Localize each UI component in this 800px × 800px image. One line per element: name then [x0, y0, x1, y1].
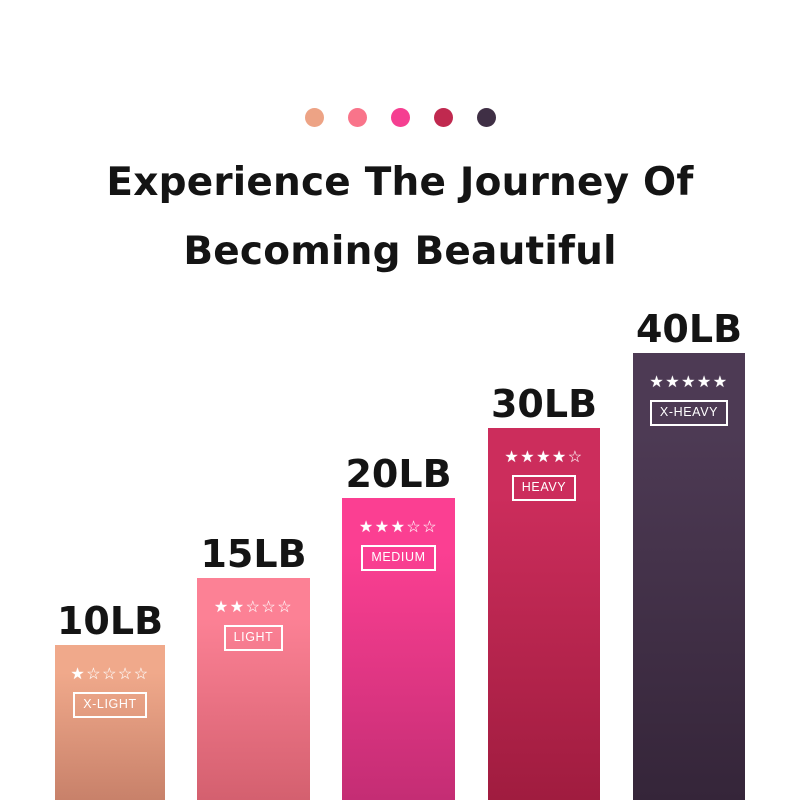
bar-column[interactable]: 10LB★☆☆☆☆X-LIGHT	[55, 645, 165, 800]
bar-column[interactable]: 40LB★★★★★X-HEAVY	[633, 353, 745, 800]
level-badge: X-LIGHT	[73, 692, 147, 718]
bar-column[interactable]: 30LB★★★★☆HEAVY	[488, 428, 600, 800]
level-badge: X-HEAVY	[650, 400, 728, 426]
star-rating-icon: ★★☆☆☆	[214, 598, 293, 617]
bar-content: ★★★★★X-HEAVY	[633, 353, 745, 426]
bar-weight-label: 20LB	[342, 452, 455, 496]
bar-weight-label: 40LB	[633, 307, 745, 351]
bar-content: ★★★☆☆MEDIUM	[342, 498, 455, 571]
bar-weight-label: 30LB	[488, 382, 600, 426]
bar-column[interactable]: 20LB★★★☆☆MEDIUM	[342, 498, 455, 800]
star-rating-icon: ★☆☆☆☆	[70, 665, 149, 684]
star-rating-icon: ★★★☆☆	[359, 518, 438, 537]
bar-weight-label: 10LB	[55, 599, 165, 643]
star-rating-icon: ★★★★☆	[504, 448, 583, 467]
level-badge: MEDIUM	[361, 545, 435, 571]
bar-content: ★☆☆☆☆X-LIGHT	[55, 645, 165, 718]
bar-column[interactable]: 15LB★★☆☆☆LIGHT	[197, 578, 310, 800]
bar-rect: ★★★☆☆MEDIUM	[342, 498, 455, 800]
bar-rect: ★★★★☆HEAVY	[488, 428, 600, 800]
bar-weight-label: 15LB	[197, 532, 310, 576]
bar-rect: ★☆☆☆☆X-LIGHT	[55, 645, 165, 800]
level-badge: LIGHT	[224, 625, 284, 651]
star-rating-icon: ★★★★★	[649, 373, 728, 392]
promo-graphic: Experience The Journey Of Becoming Beaut…	[0, 0, 800, 800]
bar-content: ★★★★☆HEAVY	[488, 428, 600, 501]
bar-content: ★★☆☆☆LIGHT	[197, 578, 310, 651]
resistance-bar-chart: 10LB★☆☆☆☆X-LIGHT15LB★★☆☆☆LIGHT20LB★★★☆☆M…	[0, 0, 800, 800]
level-badge: HEAVY	[512, 475, 576, 501]
bar-rect: ★★☆☆☆LIGHT	[197, 578, 310, 800]
bar-rect: ★★★★★X-HEAVY	[633, 353, 745, 800]
